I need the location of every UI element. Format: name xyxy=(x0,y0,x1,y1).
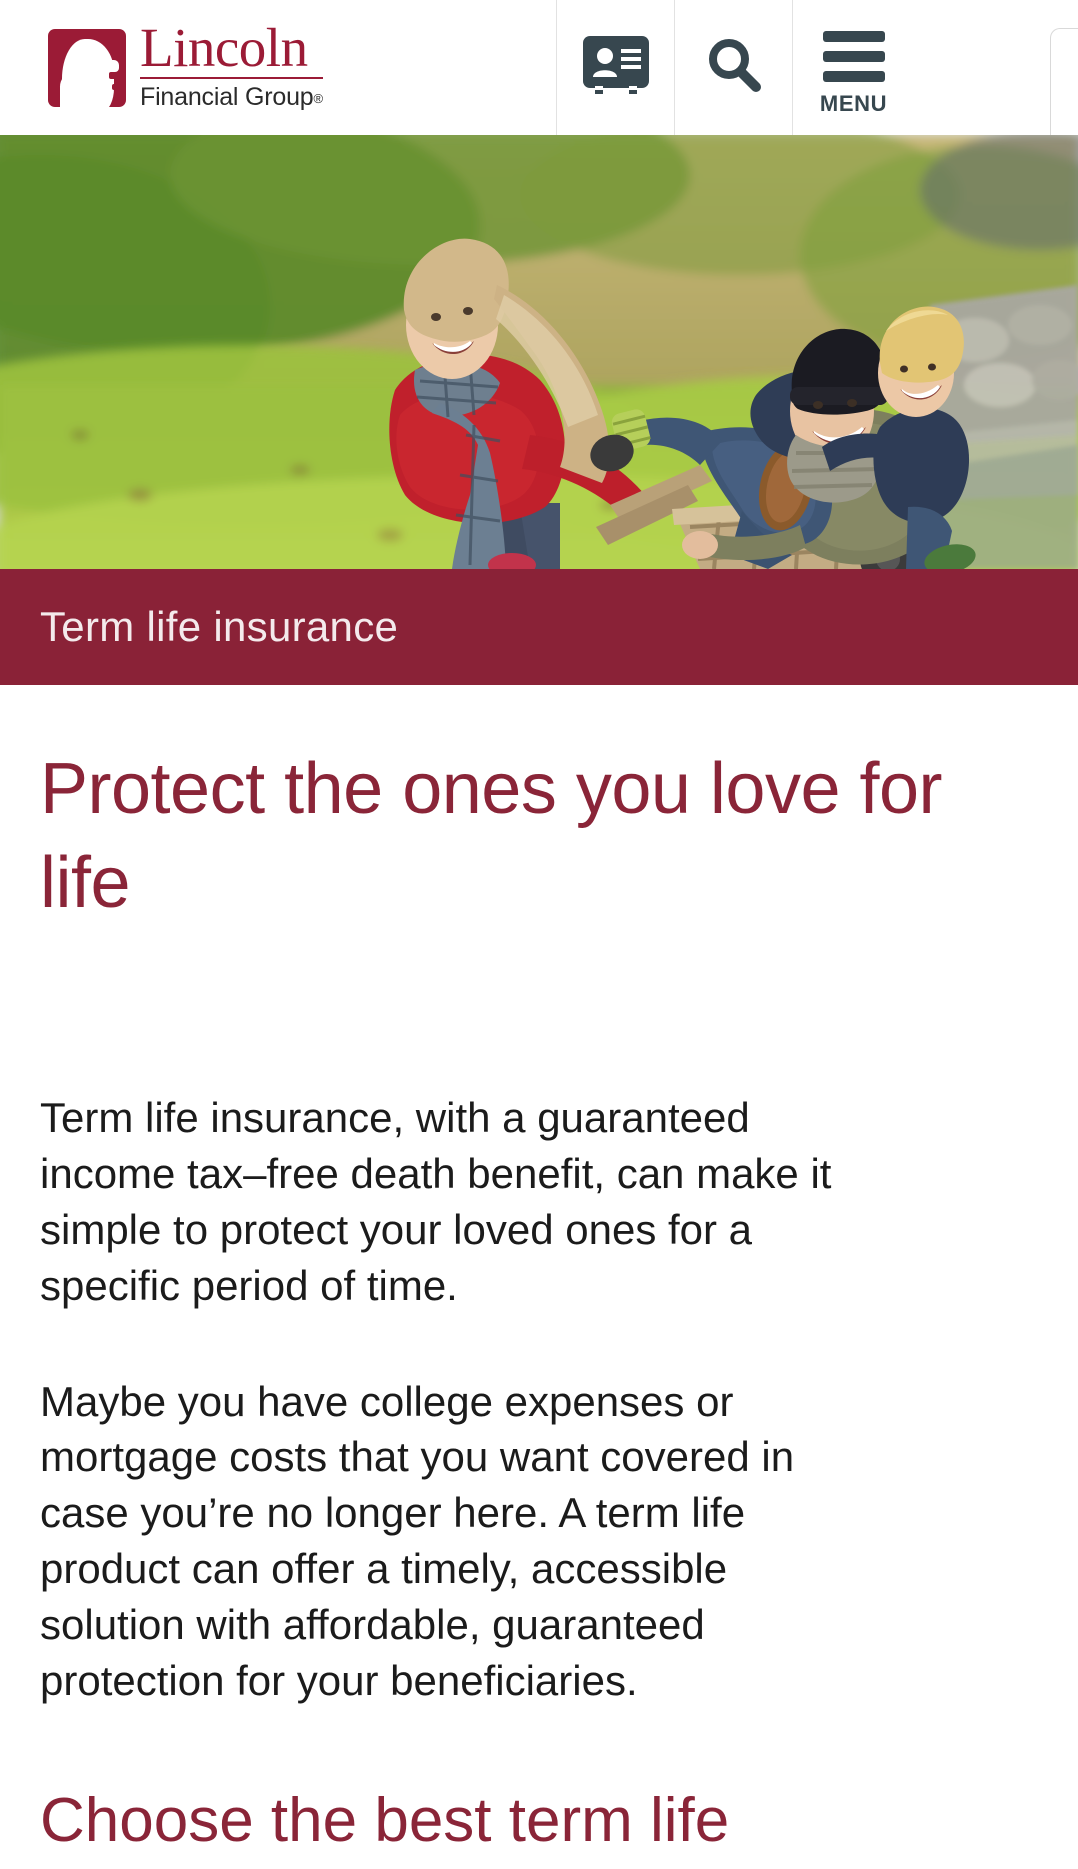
lincoln-head-logo-icon xyxy=(48,29,126,107)
brand-name-primary: Lincoln xyxy=(140,22,323,79)
section-heading-choose: Choose the best term life xyxy=(40,1781,1038,1860)
page-title: Protect the ones you love for life xyxy=(40,743,970,930)
menu-button-label: MENU xyxy=(820,91,887,117)
id-card-icon xyxy=(583,36,649,99)
page-category-label: Term life insurance xyxy=(40,603,398,651)
main-content: Protect the ones you love for life Term … xyxy=(0,743,1078,1860)
page-category-ribbon: Term life insurance xyxy=(0,569,1078,685)
account-button[interactable] xyxy=(556,0,674,135)
hamburger-menu-icon xyxy=(823,31,885,82)
brand-logo-text: Lincoln Financial Group® xyxy=(140,22,323,114)
intro-paragraph-2: Maybe you have college expenses or mortg… xyxy=(40,1374,870,1709)
site-header: Lincoln Financial Group® xyxy=(0,0,1078,135)
intro-paragraph-1: Term life insurance, with a guaranteed i… xyxy=(40,1090,870,1313)
hero-image xyxy=(0,135,1078,569)
brand-name-secondary: Financial Group® xyxy=(140,79,323,113)
logo-home-link[interactable]: Lincoln Financial Group® xyxy=(0,0,556,135)
search-icon xyxy=(703,34,765,101)
brand-logo: Lincoln Financial Group® xyxy=(48,22,323,114)
registered-mark: ® xyxy=(313,91,322,106)
search-button[interactable] xyxy=(674,0,792,135)
page-root: Lincoln Financial Group® xyxy=(0,0,1078,1869)
menu-button[interactable]: MENU xyxy=(792,0,914,135)
